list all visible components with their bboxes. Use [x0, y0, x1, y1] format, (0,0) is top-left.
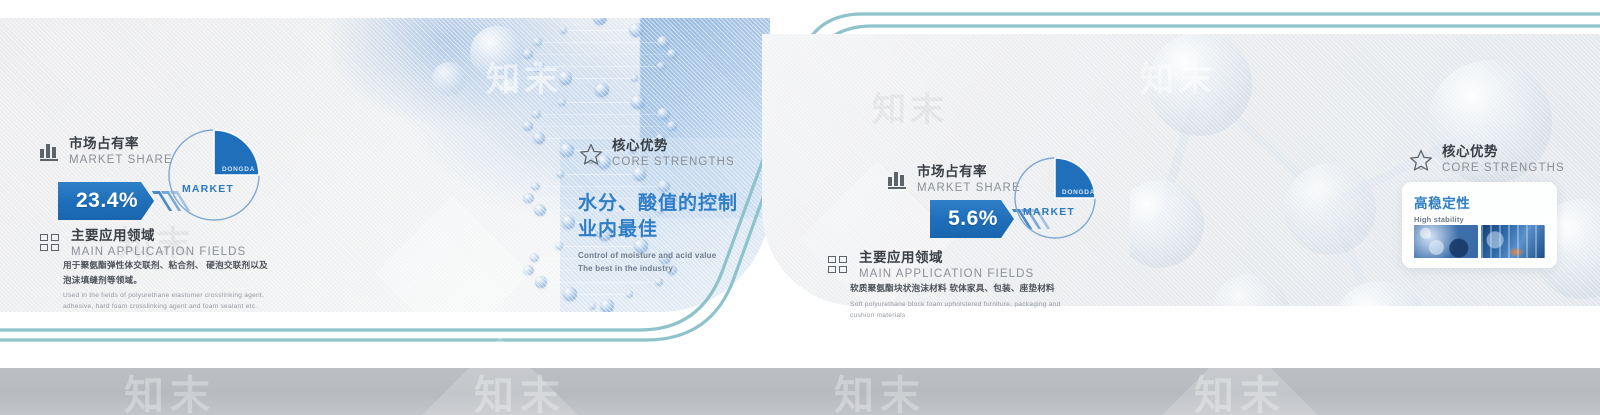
squares-icon — [828, 256, 850, 275]
left-body-zh-line1: 用于聚氨酯弹性体交联剂、粘合剂、 硬泡交联剂以及 — [63, 258, 278, 273]
right-application-title-en: MAIN APPLICATION FIELDS — [859, 267, 1034, 282]
left-market-share-header: 市场占有率 MARKET SHARE — [40, 136, 173, 168]
bubble-decoration — [432, 62, 466, 96]
center-core-strengths: 核心优势 CORE STRENGTHS 水分、酸值的控制 业内最佳 Contro… — [578, 138, 738, 275]
right-body-zh-line1: 软质聚氨酯块状泡沫材料 软体家具、包装、座垫材料 — [850, 281, 1080, 296]
bar-chart-icon — [40, 143, 60, 161]
lab-test-tubes-photo — [1481, 225, 1545, 258]
center-headline-en-line2: The best in the industry — [578, 263, 738, 275]
watermark: 知末 — [124, 363, 216, 415]
left-body-en-line1: Used in the fields of polyurethane elast… — [63, 291, 278, 302]
left-body-en-line2: adhesive, hard foam crosslinking agent a… — [63, 302, 278, 313]
left-body-zh-line2: 泡沫填缝剂等领域。 — [63, 273, 278, 288]
left-percent-value: 23.4% — [58, 182, 154, 220]
watermark: 知末 — [872, 82, 948, 131]
star-icon — [1408, 148, 1434, 172]
lab-chemicals-photo — [1414, 225, 1478, 258]
right-body-en-line1: Soft polyurethane block foam upholstered… — [850, 300, 1080, 311]
right-market-share-title-en: MARKET SHARE — [917, 181, 1021, 196]
center-core-title-zh: 核心优势 — [612, 138, 735, 155]
stability-title-zh: 高稳定性 — [1414, 192, 1557, 212]
center-core-title-en: CORE STRENGTHS — [612, 155, 735, 170]
watermark: 知末 — [474, 363, 566, 415]
poster-main-area: 知末 知末 市场占有率 MARKET SHARE 23.4% DONGDA MA… — [0, 0, 1600, 368]
pie-market-label: MARKET — [1007, 170, 1091, 254]
right-core-title-zh: 核心优势 — [1442, 144, 1565, 161]
bar-chart-icon — [888, 171, 908, 189]
center-headline-zh-line2: 业内最佳 — [578, 217, 738, 243]
star-icon — [578, 142, 604, 166]
poster-canvas: 知末 知末 市场占有率 MARKET SHARE 23.4% DONGDA MA… — [0, 0, 1600, 415]
right-percent-value: 5.6% — [930, 200, 1014, 238]
stability-photo-row — [1414, 225, 1545, 258]
center-headline-en-line1: Control of moisture and acid value — [578, 250, 738, 262]
bottom-gray-strip: 知末 知末 知末 知末 — [0, 368, 1600, 415]
right-body-en-line2: cushion materials — [850, 311, 1080, 322]
right-market-share-title-zh: 市场占有率 — [917, 164, 1021, 181]
watermark: 知末 — [1194, 363, 1286, 415]
stability-title-en: High stability — [1414, 215, 1557, 224]
right-market-pie-chart: DONGDA MARKET — [1013, 156, 1097, 240]
left-application-title-zh: 主要应用领域 — [71, 228, 246, 245]
left-application-header: 主要应用领域 MAIN APPLICATION FIELDS — [40, 228, 246, 260]
right-application-title-zh: 主要应用领域 — [859, 250, 1034, 267]
stability-card: 高稳定性 High stability — [1402, 182, 1557, 268]
left-application-body: 用于聚氨酯弹性体交联剂、粘合剂、 硬泡交联剂以及 泡沫填缝剂等领域。 Used … — [63, 258, 278, 313]
left-market-pie-chart: DONGDA MARKET — [167, 128, 261, 222]
center-headline-zh-line1: 水分、酸值的控制 — [578, 191, 738, 217]
right-application-body: 软质聚氨酯块状泡沫材料 软体家具、包装、座垫材料 Soft polyuretha… — [850, 281, 1080, 322]
right-core-strengths: 核心优势 CORE STRENGTHS — [1408, 144, 1565, 176]
squares-icon — [40, 234, 62, 253]
right-market-share-header: 市场占有率 MARKET SHARE — [888, 164, 1021, 196]
left-market-share-title-zh: 市场占有率 — [69, 136, 173, 153]
right-core-title-en: CORE STRENGTHS — [1442, 161, 1565, 176]
watermark: 知末 — [834, 363, 926, 415]
pie-market-label: MARKET — [161, 142, 255, 236]
left-market-share-title-en: MARKET SHARE — [69, 153, 173, 168]
right-application-header: 主要应用领域 MAIN APPLICATION FIELDS — [828, 250, 1034, 282]
